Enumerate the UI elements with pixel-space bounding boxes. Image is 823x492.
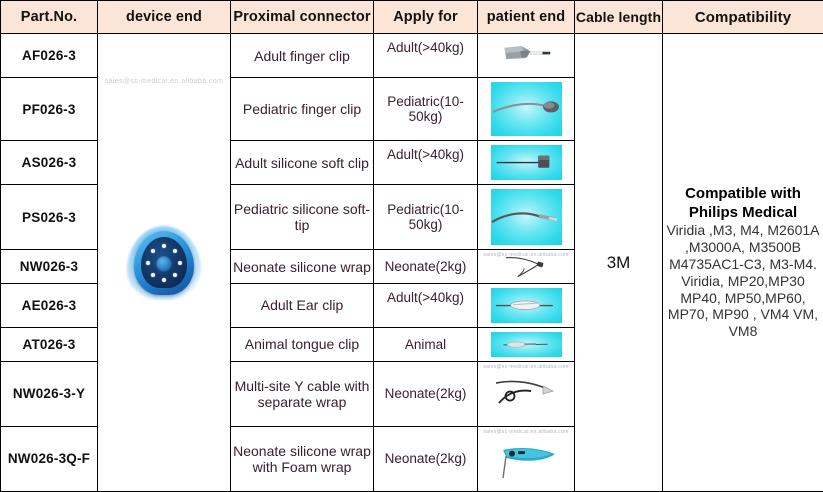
cell-apply-for: Adult(>40kg) [374,34,478,78]
cell-part-no: PS026-3 [1,185,98,250]
cell-proximal-connector: Animal tongue clip [231,328,374,362]
cell-apply-for: Neonate(2kg) [374,250,478,284]
column-header-patient-end: patient end [478,1,575,34]
cell-apply-for: Adult(>40kg) [374,283,478,327]
column-header-compatibility: Compatibility [663,1,823,34]
cell-proximal-connector: Pediatric silicone soft-tip [231,185,374,250]
header-row: Part.No. device end Proximal connector A… [1,1,823,34]
cell-apply-for: Neonate(2kg) [374,361,478,426]
column-header-proximal-connector: Proximal connector [231,1,374,34]
cell-cable-length: 3M [575,34,663,492]
cell-compatibility: Compatible with Philips Medical Viridia … [663,34,823,492]
cell-part-no: AF026-3 [1,34,98,78]
cell-apply-for: Neonate(2kg) [374,426,478,491]
cell-device-end: sales@sc-medical.en.alibaba.com [98,34,231,492]
column-header-cable-length: Cable length [575,1,663,34]
neonate-silicone-wrap-sensor-icon: sales@sc-medical.en.alibaba.com [479,250,574,283]
cell-part-no: NW026-3 [1,250,98,284]
pediatric-finger-clip-sensor-icon [479,78,574,140]
cell-part-no: NW026-3Q-F [1,426,98,491]
neonate-foam-wrap-sensor-icon: sales@sc-medical.en.alibaba.com [479,427,574,491]
compatibility-title-line2: Philips Medical [663,204,823,222]
cell-patient-end: sales@sc-medical.en.alibaba.com [478,250,575,284]
table-header: Part.No. device end Proximal connector A… [1,1,823,34]
cell-patient-end [478,328,575,362]
cell-apply-for: Pediatric(10-50kg) [374,185,478,250]
column-header-apply-for: Apply for [374,1,478,34]
cell-patient-end: sales@sc-medical.en.alibaba.com [478,426,575,491]
cell-patient-end [478,141,575,185]
cell-proximal-connector: Neonate silicone wrap [231,250,374,284]
cell-proximal-connector: Pediatric finger clip [231,78,374,141]
cell-patient-end [478,283,575,327]
multi-site-y-cable-sensor-icon: sales@sc-medical.en.alibaba.com [479,362,574,426]
cell-part-no: AS026-3 [1,141,98,185]
cell-proximal-connector: Multi-site Y cable with separate wrap [231,361,374,426]
cell-proximal-connector: Neonate silicone wrap with Foam wrap [231,426,374,491]
table-row: AF026-3 [1,34,823,78]
compatibility-model-list: Viridia ,M3, M4, M2601A ,M3000A, M3500B … [663,222,823,340]
compatibility-title-line1: Compatible with [663,185,823,203]
product-spec-sheet: Part.No. device end Proximal connector A… [0,0,823,492]
cell-part-no: PF026-3 [1,78,98,141]
cell-proximal-connector: Adult finger clip [231,34,374,78]
column-header-part-no: Part.No. [1,1,98,34]
cell-part-no: AE026-3 [1,283,98,327]
adult-silicone-soft-clip-sensor-icon [479,141,574,184]
watermark-text: sales@sc-medical.en.alibaba.com [98,78,230,85]
product-spec-table: Part.No. device end Proximal connector A… [0,0,823,492]
cell-part-no: NW026-3-Y [1,361,98,426]
cell-proximal-connector: Adult Ear clip [231,283,374,327]
cell-apply-for: Adult(>40kg) [374,141,478,185]
adult-finger-clip-sensor-icon [479,34,574,77]
cell-apply-for: Pediatric(10-50kg) [374,78,478,141]
pediatric-silicone-soft-tip-sensor-icon [479,185,574,249]
adult-ear-clip-sensor-icon [479,284,574,327]
cell-patient-end [478,78,575,141]
cell-patient-end [478,185,575,250]
cell-apply-for: Animal [374,328,478,362]
cell-proximal-connector: Adult silicone soft clip [231,141,374,185]
table-body: AF026-3 [1,34,823,492]
blue-8-pin-connector-icon [121,220,207,306]
column-header-device-end: device end [98,1,231,34]
cell-patient-end [478,34,575,78]
animal-tongue-clip-sensor-icon [479,328,574,361]
cell-part-no: AT026-3 [1,328,98,362]
cell-patient-end: sales@sc-medical.en.alibaba.com [478,361,575,426]
